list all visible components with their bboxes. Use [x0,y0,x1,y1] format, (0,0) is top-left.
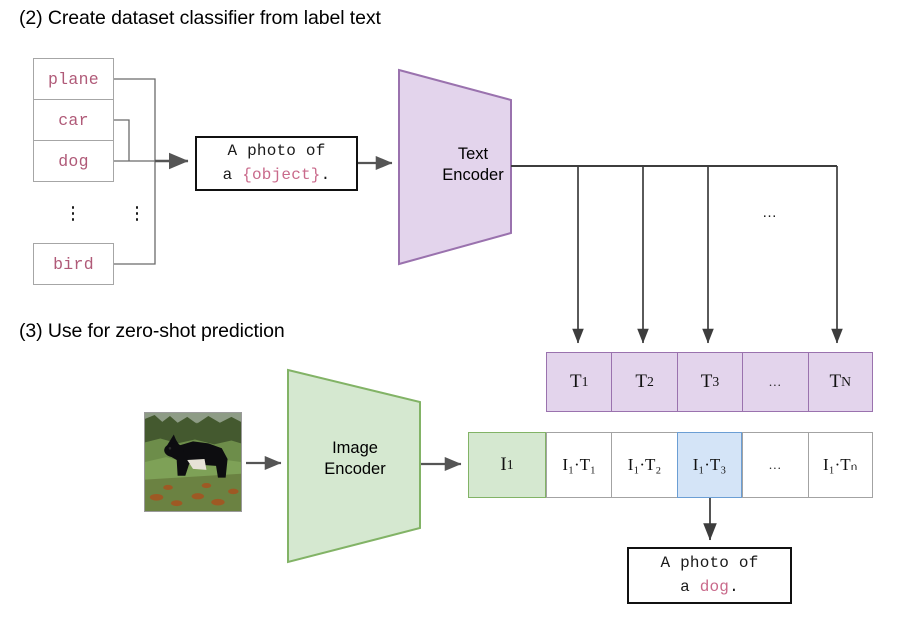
output-line-2: a dog. [680,576,739,599]
tn-sub: N [841,374,851,390]
output-line-2-suffix: . [729,578,739,596]
t3-sub: 3 [712,374,719,390]
t2-base: T [635,371,647,393]
heading-step-2: (2) Create dataset classifier from label… [19,7,381,30]
similarity-ellipsis: … [768,457,782,473]
vertical-ellipsis-labels [71,206,75,221]
vertical-ellipsis-brace [135,206,139,221]
prompt-line-2-suffix: . [321,166,331,184]
prompt-line-2-prefix: a [223,166,243,184]
heading-step-3: (3) Use for zero-shot prediction [19,320,285,343]
similarity-cell-1[interactable]: I₁·T₁ [546,432,611,498]
prompt-template-box[interactable]: A photo of a {object}. [195,136,358,191]
t1-sub: 1 [582,374,589,390]
prompt-line-1: A photo of [227,140,325,163]
text-encoder-fanout [511,166,837,343]
prompt-line-2: a {object}. [223,164,331,187]
similarity-cell-ellipsis: … [742,432,807,498]
label-box-car[interactable]: car [33,99,114,141]
label-box-plane[interactable]: plane [33,58,114,100]
diagram-canvas: (2) Create dataset classifier from label… [0,0,906,624]
prediction-output-box: A photo of a dog. [627,547,792,604]
t2-sub: 2 [647,374,654,390]
similarity-cell-n[interactable]: I₁·Tₙ [808,432,873,498]
input-photo[interactable] [144,412,242,512]
t-ellipsis: … [768,374,782,390]
output-predicted-word: dog [700,578,729,596]
text-embedding-row: T1 T2 T3 … TN [546,352,873,412]
label-merge-lines [114,79,186,264]
image-encoder-label-line-1: Image [300,438,410,459]
text-embedding-cell-1[interactable]: T1 [546,352,611,412]
output-line-2-prefix: a [680,578,700,596]
text-encoder-label-line-1: Text [423,144,523,165]
text-embedding-cell-n[interactable]: TN [808,352,873,412]
similarity-cell-3-selected[interactable]: I₁·T₃ [677,432,742,498]
t1-base: T [570,371,582,393]
text-embedding-cell-3[interactable]: T3 [677,352,742,412]
prompt-object-slot: {object} [242,166,320,184]
similarity-cell-2[interactable]: I₁·T₂ [611,432,676,498]
connector-layer [0,0,906,624]
label-box-dog[interactable]: dog [33,140,114,182]
image-embedding-box[interactable]: I1 [468,432,546,498]
image-encoder-label-line-2: Encoder [300,459,410,480]
tn-base: T [830,371,842,393]
image-encoder-label: Image Encoder [300,438,410,479]
i1-sub: 1 [507,457,514,473]
similarity-row: I₁·T₁ I₁·T₂ I₁·T₃ … I₁·Tₙ [546,432,873,498]
t3-base: T [701,371,713,393]
label-box-bird[interactable]: bird [33,243,114,285]
output-line-1: A photo of [660,552,758,575]
text-embedding-cell-ellipsis: … [742,352,807,412]
fanout-ellipsis: … [762,204,779,221]
dog-photo-illustration [145,413,241,511]
text-encoder-label-line-2: Encoder [423,165,523,186]
text-encoder-label: Text Encoder [423,144,523,185]
text-embedding-cell-2[interactable]: T2 [611,352,676,412]
